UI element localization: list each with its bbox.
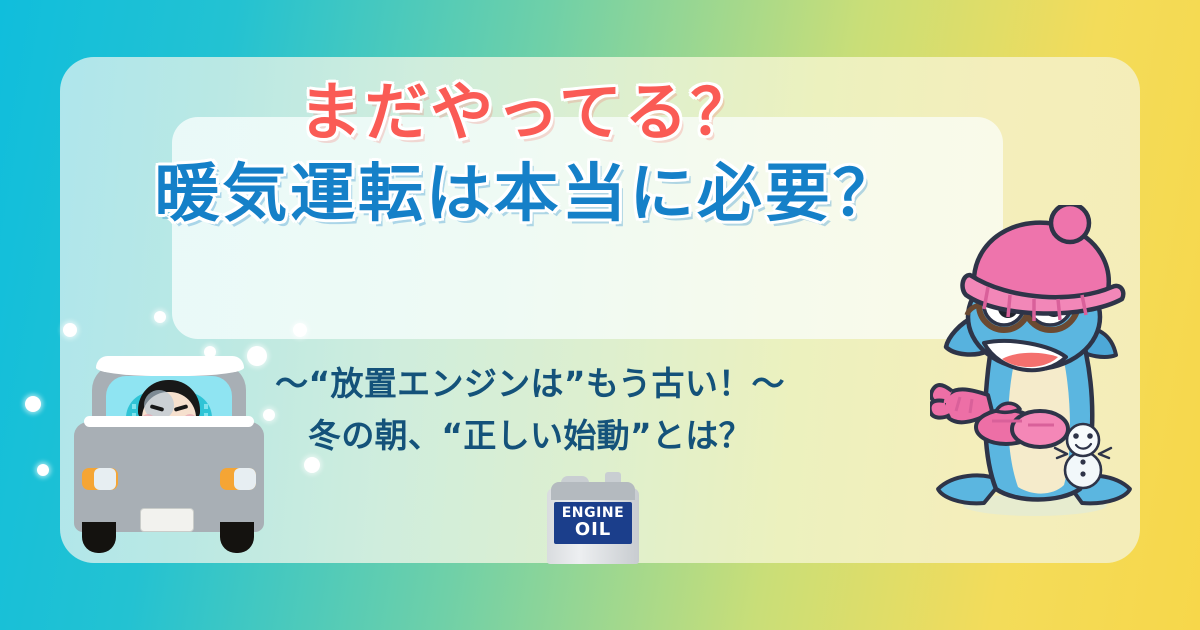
snowflake-11 <box>37 464 49 476</box>
snowflake-9 <box>304 457 320 473</box>
car-license-plate <box>140 508 194 532</box>
snowflake-6 <box>293 323 307 337</box>
snowflake-0 <box>63 323 77 337</box>
car-wheel-right <box>220 522 254 553</box>
engine-oil-can-illustration: ENGINE OIL <box>547 478 639 564</box>
car-hood-snow <box>84 416 254 427</box>
snowflake-2 <box>25 396 41 412</box>
car-wheel-left <box>82 522 116 553</box>
headline-card <box>172 117 1003 339</box>
snowflake-10 <box>154 311 166 323</box>
oil-can-label: ENGINE OIL <box>554 502 632 544</box>
oil-can-shoulder <box>551 482 635 500</box>
car-headlight-left <box>82 468 118 490</box>
snowman-illustration <box>1051 408 1115 490</box>
snowman-svg <box>1051 408 1115 490</box>
car-roof-snow <box>96 356 244 376</box>
car-headlight-right <box>220 468 256 490</box>
oil-label-text-oil: OIL <box>575 521 611 540</box>
car-illustration <box>62 350 277 565</box>
